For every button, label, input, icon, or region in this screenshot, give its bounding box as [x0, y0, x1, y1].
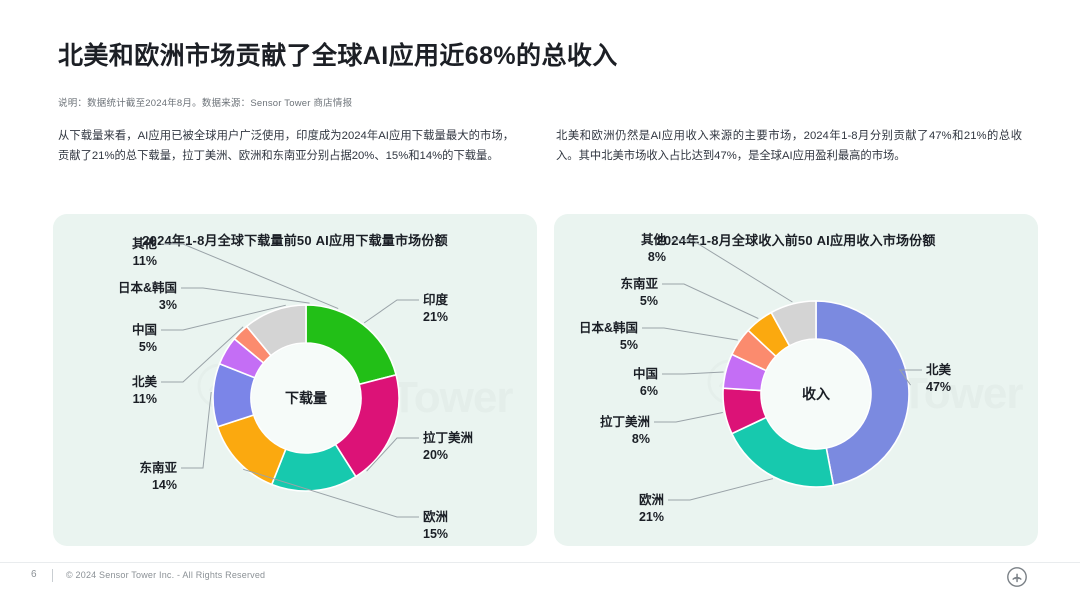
callout-value: 21% — [423, 310, 448, 324]
leader-line — [642, 328, 738, 340]
callout-category: 中国 — [633, 366, 658, 381]
intro-paragraph-right: 北美和欧洲仍然是AI应用收入来源的主要市场，2024年1-8月分别贡献了47%和… — [556, 126, 1022, 166]
sensor-tower-logo — [1006, 566, 1028, 593]
footer-copyright: © 2024 Sensor Tower Inc. - All Rights Re… — [66, 570, 265, 580]
callout-category: 欧洲 — [639, 492, 664, 507]
page-subtitle: 说明：数据统计截至2024年8月。数据来源：Sensor Tower 商店情报 — [58, 95, 352, 109]
slide: 北美和欧洲市场贡献了全球AI应用近68%的总收入 说明：数据统计截至2024年8… — [0, 0, 1080, 608]
callout-category: 东南亚 — [139, 460, 177, 475]
leader-line — [654, 413, 723, 423]
callout-value: 15% — [423, 527, 448, 541]
callout-category: 印度 — [423, 292, 449, 307]
footer-divider — [0, 562, 1080, 563]
callout-category: 中国 — [132, 322, 157, 337]
callout-value: 20% — [423, 448, 448, 462]
callout-value: 3% — [159, 298, 177, 312]
callout-value: 8% — [648, 250, 666, 264]
callout-value: 6% — [640, 384, 658, 398]
leader-line — [161, 244, 338, 309]
downloads-donut-chart: SensorTower下载量印度21%拉丁美洲20%欧洲15%东南亚14%北美1… — [53, 214, 537, 546]
callout-value: 21% — [639, 510, 664, 524]
callout-category: 日本&韩国 — [118, 280, 177, 295]
revenue-donut-chart: SensorTower收入北美47%欧洲21%拉丁美洲8%中国6%日本&韩国5%… — [554, 214, 1038, 546]
callout-value: 5% — [139, 340, 157, 354]
callout-value: 8% — [632, 432, 650, 446]
callout-category: 拉丁美洲 — [423, 430, 473, 445]
revenue-donut-svg: SensorTower收入北美47%欧洲21%拉丁美洲8%中国6%日本&韩国5%… — [554, 214, 1038, 546]
callout-category: 东南亚 — [620, 276, 658, 291]
pie-callout-label: 东南亚5% — [620, 276, 758, 319]
callout-value: 11% — [133, 392, 157, 406]
leader-line — [670, 240, 792, 302]
callout-category: 北美 — [926, 362, 952, 377]
downloads-donut-svg: SensorTower下载量印度21%拉丁美洲20%欧洲15%东南亚14%北美1… — [53, 214, 537, 546]
callout-category: 拉丁美洲 — [600, 414, 650, 429]
callout-category: 其他 — [641, 232, 667, 247]
callout-value: 47% — [926, 380, 951, 394]
pie-callout-label: 欧洲21% — [639, 479, 773, 524]
page-title: 北美和欧洲市场贡献了全球AI应用近68%的总收入 — [58, 36, 618, 72]
callout-value: 5% — [620, 338, 638, 352]
callout-category: 欧洲 — [423, 509, 448, 524]
callout-category: 日本&韩国 — [579, 320, 638, 335]
donut-center-label: 下载量 — [285, 390, 327, 406]
footer-separator — [52, 569, 53, 582]
pie-callout-label: 东南亚14% — [139, 392, 211, 492]
leader-line — [662, 284, 758, 319]
leader-line — [364, 300, 419, 323]
intro-paragraph-left: 从下载量来看，AI应用已被全球用户广泛使用，印度成为2024年AI应用下载量最大… — [58, 126, 514, 166]
callout-value: 14% — [152, 478, 177, 492]
revenue-chart-card: 2024年1-8月全球收入前50 AI应用收入市场份额 SensorTower收… — [554, 214, 1038, 546]
pie-callout-label: 印度21% — [364, 292, 448, 324]
pie-callout-label: 其他8% — [641, 232, 792, 302]
callout-value: 11% — [133, 254, 157, 268]
donut-center-label: 收入 — [802, 386, 830, 402]
callout-value: 5% — [640, 294, 658, 308]
footer-page-number: 6 — [31, 569, 37, 580]
pie-callout-label: 日本&韩国5% — [579, 320, 738, 352]
leader-line — [662, 372, 724, 374]
leader-line — [181, 288, 310, 303]
pie-callout-label: 拉丁美洲8% — [600, 413, 723, 447]
callout-category: 北美 — [132, 374, 158, 389]
downloads-chart-card: 2024年1-8月全球下载量前50 AI应用下载量市场份额 SensorTowe… — [53, 214, 537, 546]
callout-category: 其他 — [132, 236, 158, 251]
leader-line — [668, 479, 773, 500]
